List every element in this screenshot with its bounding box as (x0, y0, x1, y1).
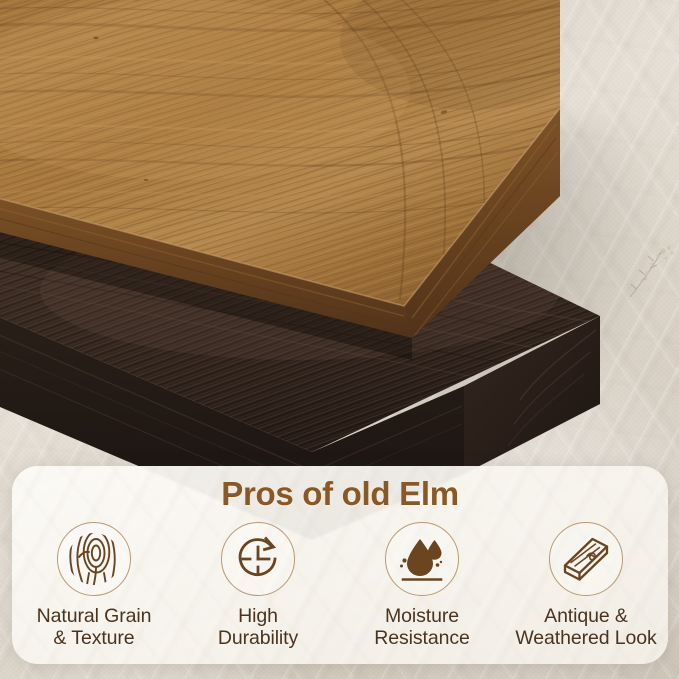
feature-list: Natural Grain & Texture (12, 522, 668, 649)
pros-info-card: Pros of old Elm (12, 466, 668, 664)
feature-icon-circle-1 (57, 522, 131, 596)
wood-grain-icon (66, 531, 122, 587)
water-droplet-icon (396, 533, 448, 585)
wood-plank-icon (559, 532, 613, 586)
product-infographic: Pros of old Elm (0, 0, 679, 679)
feature-label-2: High Durability (218, 605, 298, 649)
feature-icon-circle-3 (385, 522, 459, 596)
feature-item-natural-grain[interactable]: Natural Grain & Texture (12, 522, 176, 649)
feature-icon-circle-2 (221, 522, 295, 596)
feature-item-antique-look[interactable]: Antique & Weathered Look (504, 522, 668, 649)
feature-label-1: Natural Grain & Texture (37, 605, 152, 649)
feature-label-4: Antique & Weathered Look (515, 605, 656, 649)
feature-item-high-durability[interactable]: High Durability (176, 522, 340, 649)
clock-arrow-icon (233, 534, 283, 584)
feature-label-3: Moisture Resistance (374, 605, 469, 649)
feature-item-moisture-resistance[interactable]: Moisture Resistance (340, 522, 504, 649)
feature-icon-circle-4 (549, 522, 623, 596)
card-title: Pros of old Elm (12, 475, 668, 513)
